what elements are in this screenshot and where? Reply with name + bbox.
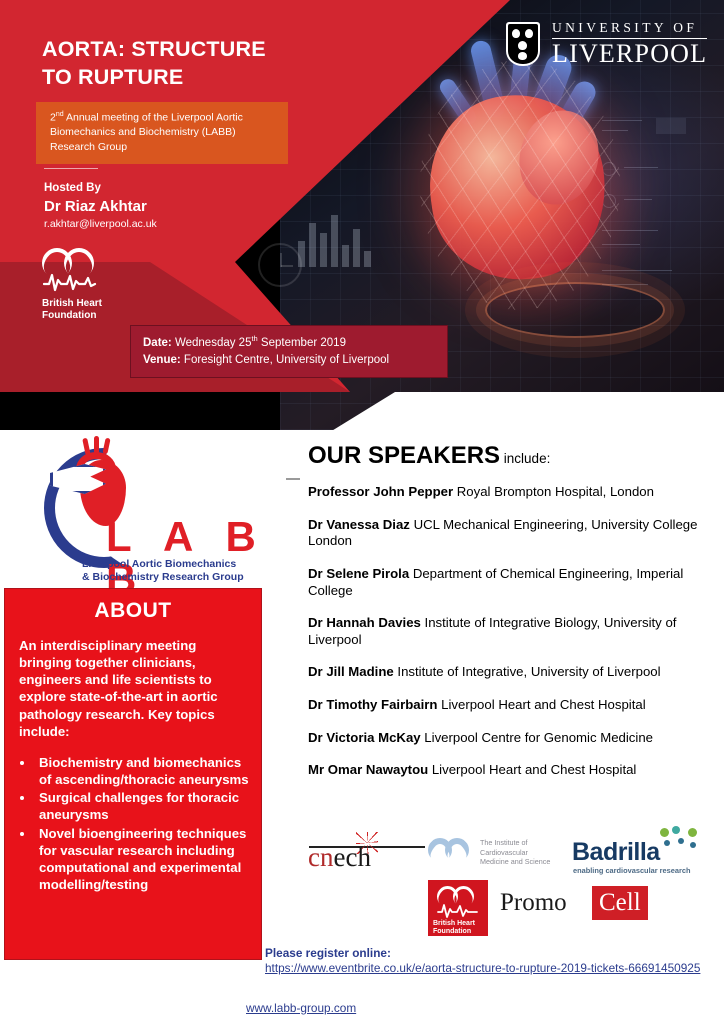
speaker-affiliation: Liverpool Centre for Genomic Medicine [421, 730, 653, 745]
cntech-logo: cnech [308, 832, 428, 878]
host-email[interactable]: r.akhtar@liverpool.ac.uk [44, 217, 157, 232]
speaker-affiliation: Royal Brompton Hospital, London [453, 484, 654, 499]
list-item: Dr Victoria McKay Liverpool Centre for G… [308, 730, 716, 747]
speaker-name: Dr Victoria McKay [308, 730, 421, 745]
list-item: Dr Selene Pirola Department of Chemical … [308, 566, 716, 599]
university-line-2: LIVERPOOL [552, 41, 707, 67]
heart-icon [42, 248, 98, 294]
bhf-line-2: Foundation [433, 928, 475, 936]
ribbon-heart-icon [428, 834, 474, 874]
labb-subtitle-line-2: & Biochemistry Research Group [82, 571, 244, 584]
badrilla-tagline: enabling cardiovascular research [573, 867, 691, 874]
ecg-line-icon [437, 903, 479, 918]
poster-banner: AORTA: STRUCTURE TO RUPTURE 2nd Annual m… [0, 0, 724, 430]
bar-chart-graphic [298, 205, 388, 267]
host-name: Dr Riaz Akhtar [44, 197, 157, 217]
promocell-cell: Cell [592, 886, 648, 920]
speaker-name: Dr Vanessa Diaz [308, 517, 410, 532]
british-heart-foundation-logo: British Heart Foundation [42, 248, 132, 322]
list-item: Dr Vanessa Diaz UCL Mechanical Engineeri… [308, 517, 716, 550]
ecg-line-icon [43, 272, 97, 292]
speakers-heading: OUR SPEAKERS include: [308, 444, 716, 468]
labb-logo: L A B B Liverpool Aortic Biomechanics & … [20, 430, 290, 590]
speaker-affiliation: Liverpool Heart and Chest Hospital [428, 762, 636, 777]
speakers-section: OUR SPEAKERS include: Professor John Pep… [308, 444, 716, 779]
speakers-heading-suffix: include: [500, 451, 550, 466]
list-item: Novel bioengineering techniques for vasc… [35, 825, 251, 894]
sponsor-logos: cnech The Institute of Cardiovascular Me… [300, 826, 724, 936]
register-label: Please register online: [265, 946, 715, 961]
university-wordmark: UNIVERSITY OF LIVERPOOL [552, 20, 707, 67]
date-label: Date: [143, 337, 172, 349]
venue-row: Venue: Foresight Centre, University of L… [143, 352, 437, 369]
speaker-name: Mr Omar Nawaytou [308, 762, 428, 777]
list-item: Surgical challenges for thoracic aneurys… [35, 789, 251, 823]
bhf-line-1: British Heart [433, 920, 475, 928]
badrilla-wordmark: Badrilla [572, 840, 660, 865]
page-title: AORTA: STRUCTURE TO RUPTURE [42, 36, 332, 91]
speaker-name: Dr Jill Madine [308, 664, 394, 679]
speaker-name: Professor John Pepper [308, 484, 453, 499]
icms-line-3: Medicine and Science [480, 857, 550, 867]
speaker-name: Dr Timothy Fairbairn [308, 697, 437, 712]
about-title: ABOUT [5, 599, 261, 623]
labb-subtitle: Liverpool Aortic Biomechanics & Biochemi… [82, 558, 244, 584]
icms-line-1: The Institute of [480, 838, 550, 848]
heart-illustration [400, 40, 650, 330]
subtitle-ordinal: nd [56, 111, 64, 118]
heart-icon [437, 886, 479, 918]
speaker-name: Dr Hannah Davies [308, 615, 421, 630]
about-body: An interdisciplinary meeting bringing to… [19, 637, 247, 740]
register-link[interactable]: https://www.eventbrite.co.uk/e/aorta-str… [265, 961, 715, 976]
venue-label: Venue: [143, 354, 181, 366]
hosted-by-label: Hosted By [44, 180, 157, 197]
icms-label: The Institute of Cardiovascular Medicine… [480, 838, 550, 867]
host-block: Hosted By Dr Riaz Akhtar r.akhtar@liverp… [44, 180, 157, 232]
university-of-liverpool-logo: UNIVERSITY OF LIVERPOOL [506, 20, 707, 67]
speakers-heading-main: OUR SPEAKERS [308, 442, 500, 469]
british-heart-foundation-sponsor-logo: British Heart Foundation [428, 880, 488, 936]
subtitle-rest: Annual meeting of the Liverpool Aortic B… [50, 112, 243, 154]
subtitle-box: 2nd Annual meeting of the Liverpool Aort… [36, 102, 288, 164]
shield-crest-icon [506, 22, 540, 66]
badrilla-logo: Badrilla enabling cardiovascular researc… [572, 826, 720, 878]
speaker-name: Dr Selene Pirola [308, 566, 409, 581]
title-line-1: AORTA: STRUCTURE [42, 36, 332, 64]
clock-icon [258, 243, 302, 287]
date-value-pre: Wednesday 25 [172, 337, 252, 349]
speaker-affiliation: Institute of Integrative, University of … [394, 664, 661, 679]
list-item: Dr Jill Madine Institute of Integrative,… [308, 664, 716, 681]
list-item: Dr Timothy Fairbairn Liverpool Heart and… [308, 697, 716, 714]
bhf-line-1: British Heart [42, 298, 132, 310]
cntech-cn: cn [308, 842, 333, 872]
list-item: Biochemistry and biomechanics of ascendi… [35, 754, 251, 788]
date-value-post: September 2019 [258, 337, 346, 349]
white-corner-shape [330, 392, 724, 430]
promocell-promo: Promo [500, 890, 567, 915]
bhf-line-2: Foundation [42, 310, 132, 322]
venue-value: Foresight Centre, University of Liverpoo… [181, 354, 389, 366]
about-bullet-list: Biochemistry and biomechanics of ascendi… [35, 754, 251, 893]
cntech-ech: ech [333, 842, 370, 872]
labb-subtitle-line-1: Liverpool Aortic Biomechanics [82, 558, 244, 571]
list-item: Professor John Pepper Royal Brompton Hos… [308, 484, 716, 501]
university-line-1: UNIVERSITY OF [552, 20, 707, 39]
bhf-label: British Heart Foundation [42, 298, 132, 322]
dash-marker-icon [286, 478, 300, 480]
website-link[interactable]: www.labb-group.com [246, 1001, 356, 1015]
list-item: Mr Omar Nawaytou Liverpool Heart and Che… [308, 762, 716, 779]
bhf-sponsor-label: British Heart Foundation [433, 920, 475, 937]
speaker-affiliation: Liverpool Heart and Chest Hospital [437, 697, 645, 712]
divider-rule [44, 168, 98, 169]
date-venue-box: Date: Wednesday 25th September 2019 Venu… [130, 325, 448, 378]
promocell-logo: Promo Cell [500, 886, 660, 926]
list-item: Dr Hannah Davies Institute of Integrativ… [308, 615, 716, 648]
event-poster: AORTA: STRUCTURE TO RUPTURE 2nd Annual m… [0, 0, 724, 1024]
icms-line-2: Cardiovascular [480, 848, 550, 858]
molecule-icon [658, 826, 700, 860]
icms-logo: The Institute of Cardiovascular Medicine… [428, 830, 576, 878]
about-panel: ABOUT An interdisciplinary meeting bring… [4, 588, 262, 960]
date-row: Date: Wednesday 25th September 2019 [143, 333, 437, 352]
registration-block: Please register online: https://www.even… [265, 946, 715, 977]
title-line-2: TO RUPTURE [42, 64, 332, 92]
